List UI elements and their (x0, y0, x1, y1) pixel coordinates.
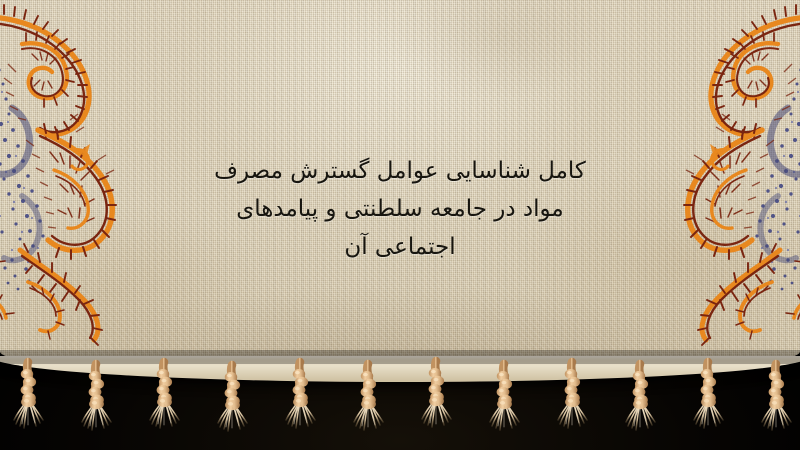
fringe-icon (0, 350, 800, 450)
tassel-row (14, 361, 791, 431)
paisley-mid-body (684, 124, 762, 259)
tassel-fringe (0, 350, 800, 450)
paisley-lower-tail (20, 244, 102, 345)
paisley-accent-curls (0, 232, 14, 326)
slide-title: کامل شناسایی عوامل گسترش مصرف مواد در جا… (190, 152, 610, 266)
paisley-lower-tail (698, 244, 780, 345)
paisley-outer-lobe (711, 4, 800, 139)
title-line-1: کامل شناسایی عوامل گسترش مصرف (190, 152, 610, 190)
title-line-2: مواد در جامعه سلطنتی و پیامدهای (190, 190, 610, 228)
paisley-inner-spiral (22, 32, 74, 107)
title-slide: کامل شناسایی عوامل گسترش مصرف مواد در جا… (0, 0, 800, 450)
title-line-3: اجتماعی آن (190, 228, 610, 266)
paisley-mid-body (38, 124, 116, 259)
paisley-inner-spiral (726, 32, 778, 107)
paisley-accent-curls (786, 232, 800, 326)
paisley-outer-lobe (0, 4, 89, 139)
